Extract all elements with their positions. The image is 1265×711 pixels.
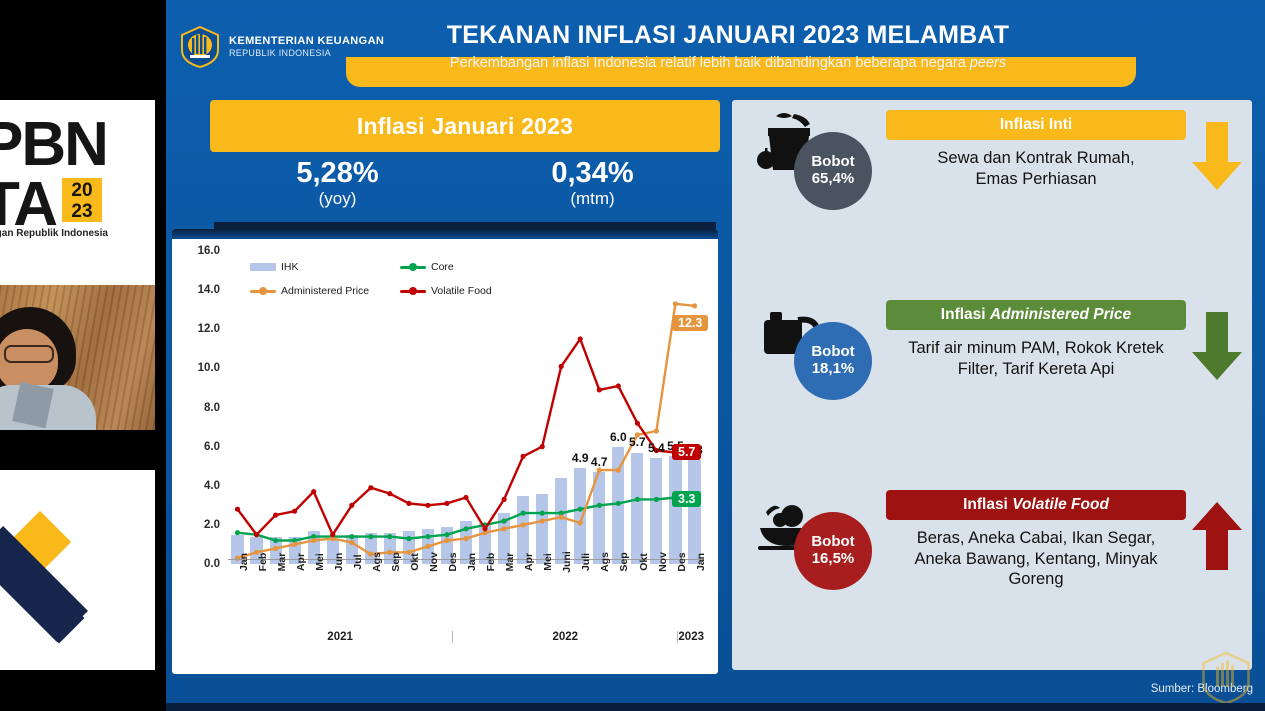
x-tick: Jan — [457, 560, 476, 604]
description-line: Sewa dan Kontrak Rumah, — [868, 148, 1204, 169]
banner-line1: PBN — [0, 114, 107, 176]
x-tick: Jun — [323, 560, 342, 604]
banner-subtitle: angan Republik Indonesia — [0, 228, 108, 239]
description-line: Tarif air minum PAM, Rokok Kretek — [868, 338, 1204, 359]
subtitle-italic: peers — [970, 55, 1006, 71]
screen: PBN TA 20 23 angan Republik Indonesia — [0, 0, 1265, 711]
x-tick: Nov — [418, 560, 437, 604]
description-line: Beras, Aneka Cabai, Ikan Segar, — [868, 528, 1204, 549]
x-tick: Sep — [609, 560, 628, 604]
bobot-label: Bobot — [811, 344, 854, 361]
x-tick: Nov — [647, 560, 666, 604]
presentation-slide: KEMENTERIAN KEUANGAN REPUBLIK INDONESIA … — [166, 0, 1265, 711]
series-end-badge: 3.3 — [672, 491, 701, 507]
x-tick: Mei — [533, 560, 552, 604]
x-tick: Okt — [628, 560, 647, 604]
component-title: Inflasi Volatile Food — [963, 496, 1109, 514]
ministry-logo-text: KEMENTERIAN KEUANGAN REPUBLIK INDONESIA — [229, 35, 384, 59]
y-tick-label: 2.0 — [204, 519, 220, 531]
y-tick-label: 10.0 — [198, 362, 220, 374]
speaker-video-thumbnail — [0, 285, 155, 430]
chart-x-axis-labels: JanFebMarAprMeiJunJulAgsSepOktNovDesJanF… — [228, 560, 704, 604]
x-tick: Ags — [361, 560, 380, 604]
x-tick: Ags — [590, 560, 609, 604]
slide-header: TEKANAN INFLASI JANUARI 2023 MELAMBAT Pe… — [378, 22, 1078, 72]
x-tick: Mar — [266, 560, 285, 604]
trend-arrow-up-icon — [1190, 500, 1244, 577]
slide-bottom-bar — [166, 703, 1265, 711]
chart-lines — [228, 251, 704, 564]
year-band-label: 2021 — [228, 631, 452, 643]
inflation-metrics-row: 5,28% (yoy) 0,34% (mtm) — [210, 158, 720, 220]
x-tick: Jan — [685, 560, 704, 604]
ministry-name-line1: KEMENTERIAN KEUANGAN — [229, 35, 384, 48]
metric-yoy: 5,28% (yoy) — [210, 158, 465, 220]
metric-mtm-value: 0,34% — [465, 158, 720, 188]
chart-plot-area: 4.94.76.05.75.45.55.312.35.73.3 — [228, 251, 704, 564]
bobot-label: Bobot — [811, 534, 854, 551]
y-tick-label: 6.0 — [204, 441, 220, 453]
description-line: Emas Perhiasan — [868, 169, 1204, 190]
y-tick-label: 14.0 — [198, 284, 220, 296]
x-tick: Apr — [285, 560, 304, 604]
inflation-chart-card: IHK Core Administered Price Volatile Foo… — [172, 229, 718, 674]
bobot-value: 16,5% — [812, 551, 855, 568]
x-tick: Feb — [247, 560, 266, 604]
banner-year-top: 20 — [62, 180, 102, 201]
ministry-name-line2: REPUBLIK INDONESIA — [229, 48, 384, 59]
x-tick: Des — [438, 560, 457, 604]
apbn-kita-banner: PBN TA 20 23 angan Republik Indonesia — [0, 100, 155, 285]
inflation-component-block: Bobot65,4%Inflasi IntiSewa dan Kontrak R… — [732, 104, 1252, 264]
kemenkeu-logo-icon — [180, 26, 220, 68]
year-band-label: 2022 — [452, 631, 677, 643]
component-title: Inflasi Inti — [1000, 116, 1072, 134]
x-tick: Feb — [476, 560, 495, 604]
inflation-components-panel: Bobot65,4%Inflasi IntiSewa dan Kontrak R… — [732, 100, 1252, 670]
y-tick-label: 8.0 — [204, 402, 220, 414]
eyeglasses-icon — [4, 345, 54, 363]
x-tick: Apr — [514, 560, 533, 604]
series-end-badge: 12.3 — [672, 315, 708, 331]
bobot-value: 65,4% — [812, 171, 855, 188]
bobot-badge: Bobot18,1% — [794, 322, 872, 400]
chart-top-bar — [172, 229, 718, 239]
x-tick: Jul — [342, 560, 361, 604]
x-tick: Okt — [399, 560, 418, 604]
ministry-logo-block: KEMENTERIAN KEUANGAN REPUBLIK INDONESIA — [180, 26, 384, 68]
bobot-badge: Bobot16,5% — [794, 512, 872, 590]
component-title-bar: Inflasi Administered Price — [886, 300, 1186, 330]
bar-value-label: 5.4 — [648, 441, 665, 455]
metric-yoy-unit: (yoy) — [210, 189, 465, 209]
watermark-logo-icon — [1201, 651, 1251, 705]
component-title: Inflasi Administered Price — [941, 306, 1131, 324]
slide-title: TEKANAN INFLASI JANUARI 2023 MELAMBAT — [378, 22, 1078, 50]
subtitle-plain: Perkembangan inflasi Indonesia relatif l… — [450, 55, 970, 71]
x-tick: Jan — [228, 560, 247, 604]
description-line: Aneka Bawang, Kentang, Minyak — [868, 549, 1204, 570]
y-tick-label: 12.0 — [198, 323, 220, 335]
banner-line2: TA — [0, 174, 56, 236]
series-end-badge: 5.7 — [672, 444, 701, 460]
component-title-bar: Inflasi Volatile Food — [886, 490, 1186, 520]
y-tick-label: 4.0 — [204, 480, 220, 492]
x-tick-label: Jan — [695, 553, 707, 571]
x-tick: Juni — [552, 560, 571, 604]
metric-yoy-value: 5,28% — [210, 158, 465, 188]
description-line: Filter, Tarif Kereta Api — [868, 359, 1204, 380]
bar-value-label: 5.7 — [629, 435, 646, 449]
x-tick: Des — [666, 560, 685, 604]
x-tick: Juli — [571, 560, 590, 604]
logo-graphic-block — [0, 470, 155, 670]
chart-y-axis: 0.02.04.06.08.010.012.014.016.0 — [172, 251, 224, 564]
component-description: Sewa dan Kontrak Rumah,Emas Perhiasan — [868, 148, 1204, 189]
video-feed-column: PBN TA 20 23 angan Republik Indonesia — [0, 0, 166, 711]
inflation-component-block: Bobot16,5%Inflasi Volatile FoodBeras, An… — [732, 484, 1252, 644]
bobot-value: 18,1% — [812, 361, 855, 378]
component-title-bar: Inflasi Inti — [886, 110, 1186, 140]
x-tick: Mar — [495, 560, 514, 604]
y-tick-label: 16.0 — [198, 245, 220, 257]
component-description: Tarif air minum PAM, Rokok KretekFilter,… — [868, 338, 1204, 379]
trend-arrow-down-icon — [1190, 310, 1244, 387]
x-tick: Sep — [380, 560, 399, 604]
metrics-underline — [214, 222, 716, 229]
component-description: Beras, Aneka Cabai, Ikan Segar,Aneka Baw… — [868, 528, 1204, 590]
inflasi-januari-tab: Inflasi Januari 2023 — [210, 100, 720, 152]
metric-mtm-unit: (mtm) — [465, 189, 720, 209]
x-tick: Mei — [304, 560, 323, 604]
slide-subtitle: Perkembangan inflasi Indonesia relatif l… — [378, 55, 1078, 72]
bobot-label: Bobot — [811, 154, 854, 171]
bar-value-label: 4.7 — [591, 455, 608, 469]
description-line: Goreng — [868, 569, 1204, 590]
banner-year-bottom: 23 — [62, 201, 102, 222]
bar-value-label: 6.0 — [610, 430, 627, 444]
bar-value-label: 4.9 — [572, 451, 589, 465]
bobot-badge: Bobot65,4% — [794, 132, 872, 210]
chart-year-band: 202120222023 — [228, 624, 704, 650]
trend-arrow-down-icon — [1190, 120, 1244, 197]
y-tick-label: 0.0 — [204, 558, 220, 570]
year-band-label: 2023 — [677, 631, 704, 643]
inflasi-tab-label: Inflasi Januari 2023 — [357, 113, 573, 140]
banner-year-badge: 20 23 — [62, 178, 102, 222]
metric-mtm: 0,34% (mtm) — [465, 158, 720, 220]
inflation-component-block: Bobot18,1%Inflasi Administered PriceTari… — [732, 294, 1252, 454]
